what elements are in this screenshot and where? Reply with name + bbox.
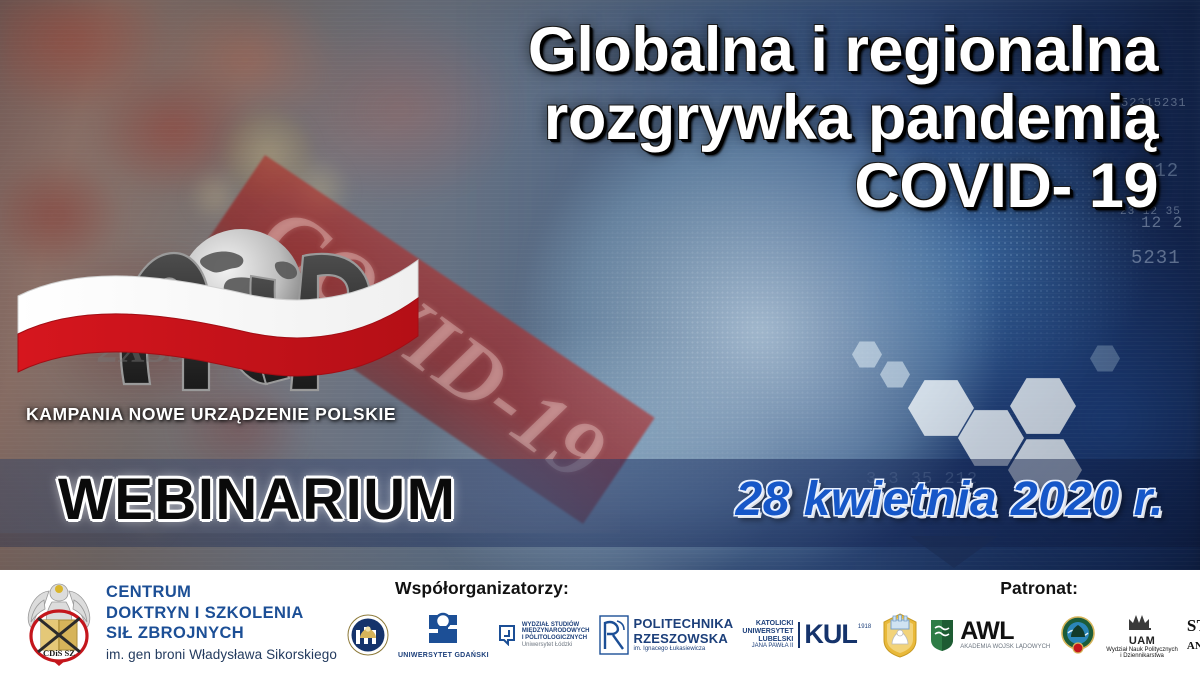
wsmip-line-2: MIĘDZYNARODOWYCH [522,628,590,635]
uam-mark: UAM [1106,636,1178,647]
university-seal-icon [347,614,389,656]
knup-logo-caption: KAMPANIA NOWE URZĄDZENIE POLSKIE [26,404,396,425]
title-line-3: COVID- 19 [528,152,1158,220]
wsmip-line-4: Uniwersytet Łódzki [522,642,590,649]
wsmip-mark-icon [498,624,517,646]
uam-crown-icon [1125,611,1159,631]
event-type-label: WEBINARIUM [58,466,456,533]
cdissz-emblem-icon: CDiS SZ [22,578,96,666]
city-coat-of-arms-icon [880,612,920,658]
partner-logo-strategy-and-future: STRATEGY ANDFUTURE [1187,617,1200,654]
partner-logo-military-emblem [1059,615,1097,655]
pr-line-1: POLITECHNIKA [634,617,734,631]
pr-line-3: im. Ignacego Łukasiewicza [634,646,734,653]
saf-line-1: STRATEGY [1187,617,1200,635]
kul-mark: KUL [804,622,857,648]
awl-mark: AWL [960,620,1050,644]
kul-line-3: LUBELSKI [742,636,793,644]
title-line-2: rozgrywka pandemią [528,84,1158,152]
awl-text-block: AWL AKADEMIA WOJSK LĄDOWYCH [960,620,1050,650]
pr-line-2: RZESZOWSKA [634,632,734,646]
partner-logo-uam: UAM Wydział Nauk Politycznych i Dziennik… [1106,611,1178,659]
kul-year: 1918 [858,624,871,630]
partner-logo-uniwersytet-gdanski: UNIWERSYTET GDAŃSKI [398,611,489,659]
knup-logo-graphic: 2X35 [16,196,466,436]
title-line-1: Globalna i regionalna [528,16,1158,84]
military-emblem-icon [1059,615,1097,655]
footer-logo-bar: CDiS SZ CENTRUM DOKTRYN I SZKOLENIA SIŁ … [0,570,1200,674]
kul-line-2: UNIWERSYTET [742,628,793,636]
event-date: 28 kwietnia 2020 r. [736,472,1164,527]
partner-logo-city-coat-of-arms [880,612,920,658]
kul-line-4: JANA PAWŁA II [742,643,793,650]
organizer-block: CDiS SZ CENTRUM DOKTRYN I SZKOLENIA SIŁ … [0,570,337,674]
partners-area: Współorganizatorzy: Patronat: [337,570,1200,674]
uam-line-2: i Dziennikarstwa [1106,653,1178,659]
poster-banner: COVID-19 52315231 212 23 12 35 12 2 5231… [0,0,1200,674]
uniwersytet-gdanski-icon [419,611,467,647]
kul-text-block: KATOLICKI UNIWERSYTET LUBELSKI JANA PAWŁ… [742,620,793,650]
organizer-subtitle: im. gen broni Władysława Sikorskiego [106,647,337,662]
partner-logo-university-seal [347,614,389,656]
awl-shield-icon [929,618,955,652]
cdissz-emblem-label: CDiS SZ [43,648,75,658]
page-title: Globalna i regionalna rozgrywka pandemią… [528,16,1158,220]
patronage-heading: Patronat: [1000,578,1078,599]
coorganizers-heading: Współorganizatorzy: [395,578,569,599]
politechnika-rzeszowska-icon [599,615,629,655]
wsmip-line-3: I POLITOLOGICZNYCH [522,635,590,642]
organizer-name-block: CENTRUM DOKTRYN I SZKOLENIA SIŁ ZBROJNYC… [106,582,337,662]
organizer-line-3: SIŁ ZBROJNYCH [106,623,337,644]
wsmip-text-block: WYDZIAŁ STUDIÓW MIĘDZYNARODOWYCH I POLIT… [522,622,590,648]
partner-logo-politechnika-rzeszowska: POLITECHNIKA RZESZOWSKA im. Ignacego Łuk… [599,615,734,655]
saf-line-2: AND [1187,640,1200,652]
wsmip-line-1: WYDZIAŁ STUDIÓW [522,622,590,629]
partner-logo-kul: KATOLICKI UNIWERSYTET LUBELSKI JANA PAWŁ… [742,620,871,650]
partner-logo-row: UNIWERSYTET GDAŃSKI WYDZIAŁ STUDIÓW MIĘD… [347,603,1196,667]
politechnika-rzeszowska-text: POLITECHNIKA RZESZOWSKA im. Ignacego Łuk… [634,617,734,652]
saf-text-block: STRATEGY ANDFUTURE [1187,617,1200,654]
uniwersytet-gdanski-label: UNIWERSYTET GDAŃSKI [398,652,489,659]
kul-line-1: KATOLICKI [742,620,793,628]
uam-text-block: UAM Wydział Nauk Politycznych i Dziennik… [1106,611,1178,659]
knup-logo: 2X35 [16,196,466,436]
awl-sub: AKADEMIA WOJSK LĄDOWYCH [960,644,1050,651]
organizer-line-2: DOKTRYN I SZKOLENIA [106,603,337,624]
partner-logo-awl: AWL AKADEMIA WOJSK LĄDOWYCH [929,618,1050,652]
partner-logo-uniwersytet-lodzki: WYDZIAŁ STUDIÓW MIĘDZYNARODOWYCH I POLIT… [498,622,590,648]
organizer-line-1: CENTRUM [106,582,337,603]
